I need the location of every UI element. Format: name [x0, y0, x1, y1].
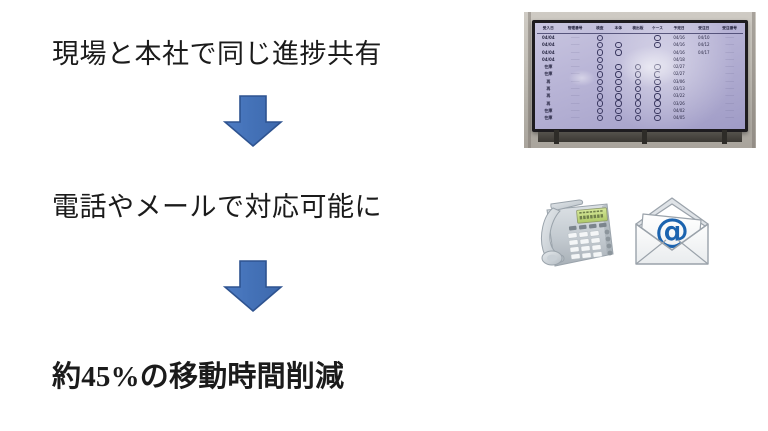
cell-check-mark [648, 107, 667, 114]
circle-mark-icon [635, 79, 641, 85]
progress-table: 受入日 管理番号 検査 本体 検出板 ケース 予定日 受注日 受注番号 [537, 25, 743, 127]
col-header-hontai: 本体 [609, 25, 628, 34]
progress-table-row: 04/04———04/1604/17——— [537, 49, 743, 56]
cell-check-mark [609, 100, 628, 107]
cell-juchu-bango: ——— [716, 70, 743, 77]
open-envelope-glyph: @ [624, 192, 720, 276]
circle-mark-icon [597, 115, 603, 121]
monitor-bezel: 受入日 管理番号 検査 本体 検出板 ケース 予定日 受注日 受注番号 [532, 20, 748, 132]
progress-table-body: 04/04———04/1604/10———04/04———04/1604/12—… [537, 34, 743, 122]
cell-check-mark [628, 63, 649, 70]
progress-table-row: 再———03/06——— [537, 78, 743, 85]
cell-uketsuke: 在庫 [537, 63, 560, 70]
cell-check-mark [628, 107, 649, 114]
cell-check-mark [591, 100, 610, 107]
circle-mark-icon [615, 93, 621, 99]
cell-juchu-bi [691, 63, 716, 70]
cell-check-mark [609, 70, 628, 77]
col-header-kanri-bango: 管理番号 [560, 25, 591, 34]
cell-juchu-bango: ——— [716, 107, 743, 114]
circle-mark-icon [635, 93, 641, 99]
cell-kanri-bango: ——— [560, 78, 591, 85]
cell-check-mark [591, 63, 610, 70]
circle-mark-icon [597, 64, 603, 70]
cell-uketsuke: 04/04 [537, 49, 560, 56]
cell-check-mark [648, 100, 667, 107]
cell-juchu-bi [691, 114, 716, 121]
circle-mark-icon [654, 100, 660, 106]
circle-mark-icon [654, 79, 660, 85]
circle-mark-icon [615, 71, 621, 77]
circle-mark-icon [615, 108, 621, 114]
circle-mark-icon [635, 86, 641, 92]
cell-check-mark [591, 78, 610, 85]
cell-uketsuke: 04/04 [537, 56, 560, 63]
cell-uketsuke: 在庫 [537, 70, 560, 77]
cell-yotei-bi: 03/13 [667, 85, 692, 92]
circle-mark-icon [654, 86, 660, 92]
open-envelope-at-icon: @ [624, 192, 720, 276]
cell-check-mark [648, 49, 667, 56]
partial-circle-mark-icon [654, 71, 660, 77]
cell-check-mark [609, 85, 628, 92]
cell-check-mark [628, 114, 649, 121]
cell-juchu-bango: ——— [716, 92, 743, 99]
cell-kanri-bango: ——— [560, 70, 591, 77]
cell-yotei-bi: 04/18 [667, 56, 692, 63]
cell-check-mark [648, 114, 667, 121]
cell-check-mark [609, 114, 628, 121]
cell-uketsuke: 04/04 [537, 34, 560, 42]
cell-check-mark [628, 49, 649, 56]
cell-juchu-bi [691, 107, 716, 114]
circle-mark-icon [635, 115, 641, 121]
cell-juchu-bango: ——— [716, 100, 743, 107]
cell-uketsuke: 04/04 [537, 41, 560, 48]
statement-line-1: 現場と本社で同じ進捗共有 [52, 37, 382, 71]
circle-mark-icon [654, 35, 660, 41]
cell-juchu-bango: ——— [716, 78, 743, 85]
col-header-kenshutsuban: 検出板 [628, 25, 649, 34]
cell-yotei-bi: 04/02 [667, 107, 692, 114]
cell-juchu-bi [691, 100, 716, 107]
cell-uketsuke: 再 [537, 92, 560, 99]
cell-kanri-bango: ——— [560, 63, 591, 70]
cell-yotei-bi: 03/22 [667, 92, 692, 99]
cell-check-mark [591, 34, 610, 42]
cell-yotei-bi: 02/27 [667, 70, 692, 77]
cell-juchu-bi [691, 56, 716, 63]
cell-juchu-bi: 04/17 [691, 49, 716, 56]
cell-yotei-bi: 04/16 [667, 49, 692, 56]
cell-check-mark [648, 34, 667, 42]
cell-check-mark [591, 49, 610, 56]
circle-mark-icon [635, 108, 641, 114]
slide-canvas: 現場と本社で同じ進捗共有 電話やメールで対応可能に [0, 0, 768, 431]
circle-mark-icon [615, 49, 621, 55]
progress-table-row: 04/04———04/1604/10——— [537, 34, 743, 42]
cell-check-mark [648, 63, 667, 70]
cell-uketsuke: 再 [537, 85, 560, 92]
progress-table-row: 再———03/22——— [537, 92, 743, 99]
cell-check-mark [609, 63, 628, 70]
cell-kanri-bango: ——— [560, 114, 591, 121]
arrow-down-2 [218, 257, 288, 315]
cell-check-mark [591, 70, 610, 77]
cell-kanri-bango: ——— [560, 107, 591, 114]
cell-check-mark [648, 70, 667, 77]
cell-check-mark [591, 41, 610, 48]
cell-uketsuke: 在庫 [537, 107, 560, 114]
cell-kanri-bango: ——— [560, 41, 591, 48]
monitor-leg-center [642, 130, 647, 144]
cell-check-mark [628, 70, 649, 77]
monitor-leg-left [554, 130, 559, 144]
circle-mark-icon [615, 42, 621, 48]
cell-check-mark [609, 49, 628, 56]
cell-juchu-bango: ——— [716, 114, 743, 121]
progress-board-photo: 受入日 管理番号 検査 本体 検出板 ケース 予定日 受注日 受注番号 [524, 12, 756, 148]
monitor-leg-right [722, 130, 727, 144]
cell-check-mark [628, 85, 649, 92]
cell-juchu-bango: ——— [716, 85, 743, 92]
cell-yotei-bi: 03/26 [667, 100, 692, 107]
cell-kanri-bango: ——— [560, 100, 591, 107]
col-header-juchu-bi: 受注日 [691, 25, 716, 34]
circle-mark-icon [654, 64, 660, 70]
cell-check-mark [609, 78, 628, 85]
circle-mark-icon [615, 86, 621, 92]
circle-mark-icon [597, 71, 603, 77]
cell-check-mark [628, 56, 649, 63]
cell-check-mark [591, 92, 610, 99]
circle-mark-icon [615, 115, 621, 121]
cell-juchu-bango: ——— [716, 34, 743, 42]
circle-mark-icon [597, 79, 603, 85]
col-header-uketsuke: 受入日 [537, 25, 560, 34]
cell-juchu-bango: ——— [716, 56, 743, 63]
cell-kanri-bango: ——— [560, 56, 591, 63]
circle-mark-icon [654, 115, 660, 121]
cell-yotei-bi: 02/27 [667, 63, 692, 70]
circle-mark-icon [597, 100, 603, 106]
cell-kanri-bango: ——— [560, 92, 591, 99]
cell-check-mark [591, 85, 610, 92]
wall-seam-left [528, 12, 531, 148]
circle-mark-icon [615, 79, 621, 85]
cell-check-mark [628, 41, 649, 48]
cell-juchu-bango: ——— [716, 49, 743, 56]
wall-seam-right [752, 12, 755, 148]
cell-check-mark [648, 92, 667, 99]
col-header-kensa: 検査 [591, 25, 610, 34]
progress-table-row: 在庫———04/05——— [537, 114, 743, 121]
arrow-down-1 [218, 92, 288, 150]
cell-check-mark [591, 56, 610, 63]
arrow-down-icon [218, 92, 288, 150]
cell-juchu-bi [691, 92, 716, 99]
circle-mark-icon [597, 86, 603, 92]
cell-juchu-bango: ——— [716, 41, 743, 48]
cell-check-mark [628, 100, 649, 107]
circle-mark-icon [635, 100, 641, 106]
cell-check-mark [628, 78, 649, 85]
cell-check-mark [591, 114, 610, 121]
circle-mark-icon [635, 64, 641, 70]
col-header-case: ケース [648, 25, 667, 34]
cell-check-mark [648, 41, 667, 48]
monitor-stand [538, 132, 742, 142]
cell-check-mark [648, 85, 667, 92]
cell-check-mark [648, 56, 667, 63]
cell-check-mark [609, 107, 628, 114]
circle-mark-icon [615, 100, 621, 106]
circle-mark-icon [654, 93, 660, 99]
cell-check-mark [609, 92, 628, 99]
cell-uketsuke: 再 [537, 78, 560, 85]
circle-mark-icon [654, 42, 660, 48]
cell-check-mark [591, 107, 610, 114]
cell-juchu-bi [691, 78, 716, 85]
col-header-yotei-bi: 予定日 [667, 25, 692, 34]
cell-juchu-bi [691, 70, 716, 77]
circle-mark-icon [635, 71, 641, 77]
cell-yotei-bi: 04/16 [667, 34, 692, 42]
desk-phone-icon [521, 192, 617, 276]
progress-table-header-row: 受入日 管理番号 検査 本体 検出板 ケース 予定日 受注日 受注番号 [537, 25, 743, 34]
progress-table-row: 再———03/26——— [537, 100, 743, 107]
cell-kanri-bango: ——— [560, 85, 591, 92]
cell-kanri-bango: ——— [560, 34, 591, 42]
cell-yotei-bi: 04/16 [667, 41, 692, 48]
circle-mark-icon [597, 57, 603, 63]
progress-table-grid: 受入日 管理番号 検査 本体 検出板 ケース 予定日 受注日 受注番号 [537, 25, 743, 122]
cell-kanri-bango: ——— [560, 49, 591, 56]
cell-uketsuke: 在庫 [537, 114, 560, 121]
cell-check-mark [609, 41, 628, 48]
col-header-juchu-bango: 受注番号 [716, 25, 743, 34]
cell-juchu-bi: 04/12 [691, 41, 716, 48]
circle-mark-icon [597, 35, 603, 41]
monitor-screen: 受入日 管理番号 検査 本体 検出板 ケース 予定日 受注日 受注番号 [535, 23, 745, 129]
cell-juchu-bi: 04/10 [691, 34, 716, 42]
progress-table-row: 在庫———02/27——— [537, 63, 743, 70]
circle-mark-icon [615, 64, 621, 70]
circle-mark-icon [597, 49, 603, 55]
circle-mark-icon [597, 108, 603, 114]
cell-check-mark [628, 34, 649, 42]
statement-line-3-highlight: 約45%の移動時間削減 [52, 359, 344, 395]
progress-table-row: 再———03/13——— [537, 85, 743, 92]
desk-phone-glyph [521, 192, 617, 276]
statement-line-2: 電話やメールで対応可能に [52, 190, 382, 224]
cell-juchu-bango: ——— [716, 63, 743, 70]
cell-check-mark [609, 34, 628, 42]
cell-check-mark [628, 92, 649, 99]
circle-mark-icon [654, 108, 660, 114]
circle-mark-icon [597, 42, 603, 48]
progress-table-row: 04/04———04/1604/12——— [537, 41, 743, 48]
cell-juchu-bi [691, 85, 716, 92]
progress-table-row: 在庫———04/02——— [537, 107, 743, 114]
progress-table-row: 04/04———04/18——— [537, 56, 743, 63]
cell-yotei-bi: 03/06 [667, 78, 692, 85]
progress-table-row: 在庫———02/27——— [537, 70, 743, 77]
cell-check-mark [609, 56, 628, 63]
cell-check-mark [648, 78, 667, 85]
cell-uketsuke: 再 [537, 100, 560, 107]
cell-yotei-bi: 04/05 [667, 114, 692, 121]
arrow-down-icon [218, 257, 288, 315]
circle-mark-icon [597, 93, 603, 99]
